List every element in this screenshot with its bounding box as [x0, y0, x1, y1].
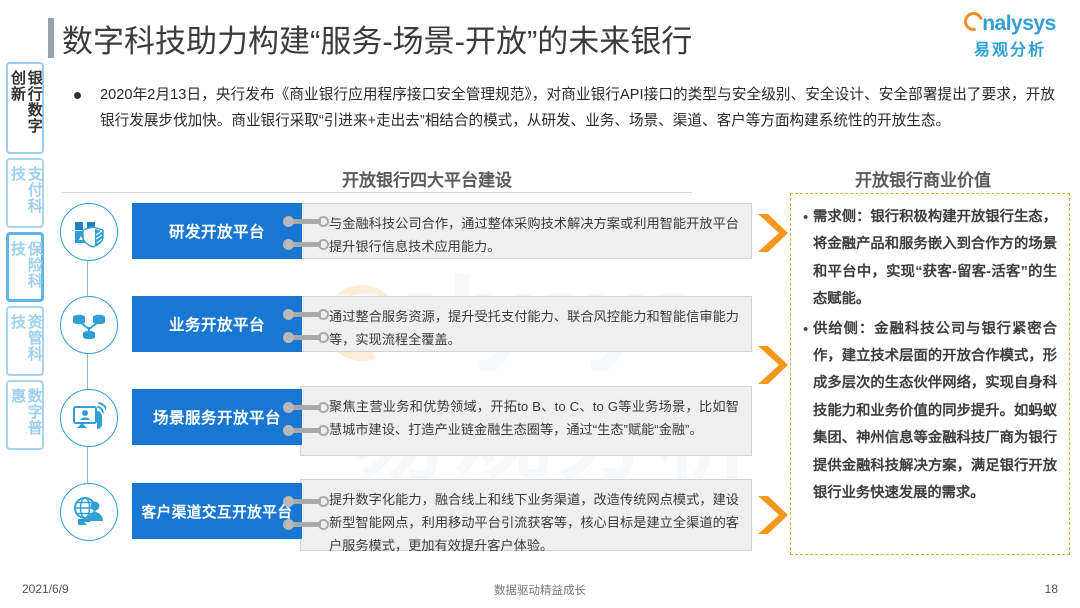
intro-bullet-icon [74, 92, 81, 99]
list-bullet-icon: • [803, 204, 813, 314]
platform-name-label: 业务开放平台 [169, 313, 265, 335]
sidebar-item-digital-inclusive-finance[interactable]: 数字普惠 [6, 380, 44, 450]
footer-slogan: 数据驱动精益成长 [0, 582, 1080, 598]
title-accent-bar [48, 18, 54, 58]
database-network-icon [60, 296, 118, 354]
platform-name-box-scenario[interactable]: 场景服务开放平台 [132, 389, 302, 445]
connector-link-icon [283, 239, 329, 250]
logo-en-text: nalysys [954, 12, 1066, 35]
platform-name-box-rd[interactable]: 研发开放平台 [132, 203, 302, 259]
sidebar-item-label: 保险科技 [8, 241, 42, 293]
chevron-right-icon [755, 344, 789, 391]
business-value-text: 需求侧：银行积极构建开放银行生态，将金融产品和服务嵌入到合作方的场景和平台中，实… [813, 204, 1057, 314]
business-value-text: 供给侧：金融科技公司与银行紧密合作，建立技术层面的开放合作模式，形成多层次的生态… [813, 316, 1057, 508]
platform-desc-text: 通过整合服务资源，提升受托支付能力、联合风控能力和智能信审能力等，实现流程全覆盖… [329, 309, 739, 347]
platform-desc-box: 通过整合服务资源，提升受托支付能力、联合风控能力和智能信审能力等，实现流程全覆盖… [300, 296, 752, 352]
platform-name-label: 场景服务开放平台 [153, 406, 281, 428]
platform-name-label: 客户渠道交互开放平台 [142, 501, 293, 522]
platform-desc-box: 聚焦主营业务和优势领域，开拓to B、to C、to G等业务场景，比如智慧城市… [300, 386, 752, 456]
timeline-spine [87, 235, 88, 505]
connector-link-icon [283, 332, 329, 343]
sidebar-item-payment-tech[interactable]: 支付科技 [6, 158, 44, 228]
connector-link-icon [283, 402, 329, 413]
platform-name-box-channel[interactable]: 客户渠道交互开放平台 [132, 483, 302, 539]
package-shield-icon [60, 203, 118, 261]
business-value-panel: • 需求侧：银行积极构建开放银行生态，将金融产品和服务嵌入到合作方的场景和平台中… [790, 193, 1070, 555]
right-column-heading: 开放银行商业价值 [855, 166, 991, 191]
globe-customer-icon [60, 483, 118, 541]
platform-desc-box: 提升数字化能力，融合线上和线下业务渠道，改造传统网点模式，建设新型智能网点，利用… [300, 479, 752, 551]
remote-service-icon [60, 389, 118, 447]
footer: 2021/6/9 数据驱动精益成长 18 [0, 574, 1080, 608]
platform-desc-text: 聚焦主营业务和优势领域，开拓to B、to C、to G等业务场景，比如智慧城市… [329, 399, 739, 437]
platform-desc-text: 提升数字化能力，融合线上和线下业务渠道，改造传统网点模式，建设新型智能网点，利用… [329, 492, 739, 553]
sidebar-item-label: 银行数字创新 [8, 70, 42, 146]
logo-en-label: nalysys [982, 12, 1056, 35]
platform-desc-text: 与金融科技公司合作，通过整体采购技术解决方案或利用智能开放平台提升银行信息技术应… [329, 216, 739, 254]
business-value-item: • 需求侧：银行积极构建开放银行生态，将金融产品和服务嵌入到合作方的场景和平台中… [803, 204, 1057, 314]
sidebar-item-label: 支付科技 [8, 166, 42, 220]
left-column-heading: 开放银行四大平台建设 [342, 166, 512, 191]
connector-link-icon [283, 496, 329, 507]
sidebar-item-label: 数字普惠 [8, 388, 42, 442]
chevron-right-icon [755, 494, 789, 541]
sidebar-item-label: 资管科技 [8, 314, 42, 368]
logo-cn-label: 易观分析 [954, 36, 1066, 60]
sidebar: 银行数字创新 支付科技 保险科技 资管科技 数字普惠 [6, 62, 48, 454]
left-column-rule [62, 192, 692, 193]
intro-paragraph: 2020年2月13日，央行发布《商业银行应用程序接口安全管理规范》，对商业银行A… [100, 82, 1055, 134]
business-value-item: • 供给侧：金融科技公司与银行紧密合作，建立技术层面的开放合作模式，形成多层次的… [803, 316, 1057, 508]
slide-root: nalysys 易观分析 数字科技助力构建“服务-场景-开放”的未来银行 nal… [0, 0, 1080, 608]
sidebar-item-bank-digital-innovation[interactable]: 银行数字创新 [6, 62, 44, 154]
chevron-right-icon [755, 212, 789, 259]
list-bullet-icon: • [803, 316, 813, 508]
platform-name-label: 研发开放平台 [169, 220, 265, 242]
analysys-logo: nalysys 易观分析 [954, 12, 1066, 60]
footer-page-number: 18 [1045, 582, 1058, 596]
sidebar-item-insurance-tech[interactable]: 保险科技 [6, 232, 44, 302]
sidebar-item-asset-management-tech[interactable]: 资管科技 [6, 306, 44, 376]
connector-link-icon [283, 425, 329, 436]
platform-desc-box: 与金融科技公司合作，通过整体采购技术解决方案或利用智能开放平台提升银行信息技术应… [300, 203, 752, 259]
platform-name-box-business[interactable]: 业务开放平台 [132, 296, 302, 352]
connector-link-icon [283, 216, 329, 227]
connector-link-icon [283, 309, 329, 320]
connector-link-icon [283, 519, 329, 530]
page-title: 数字科技助力构建“服务-场景-开放”的未来银行 [62, 16, 692, 61]
